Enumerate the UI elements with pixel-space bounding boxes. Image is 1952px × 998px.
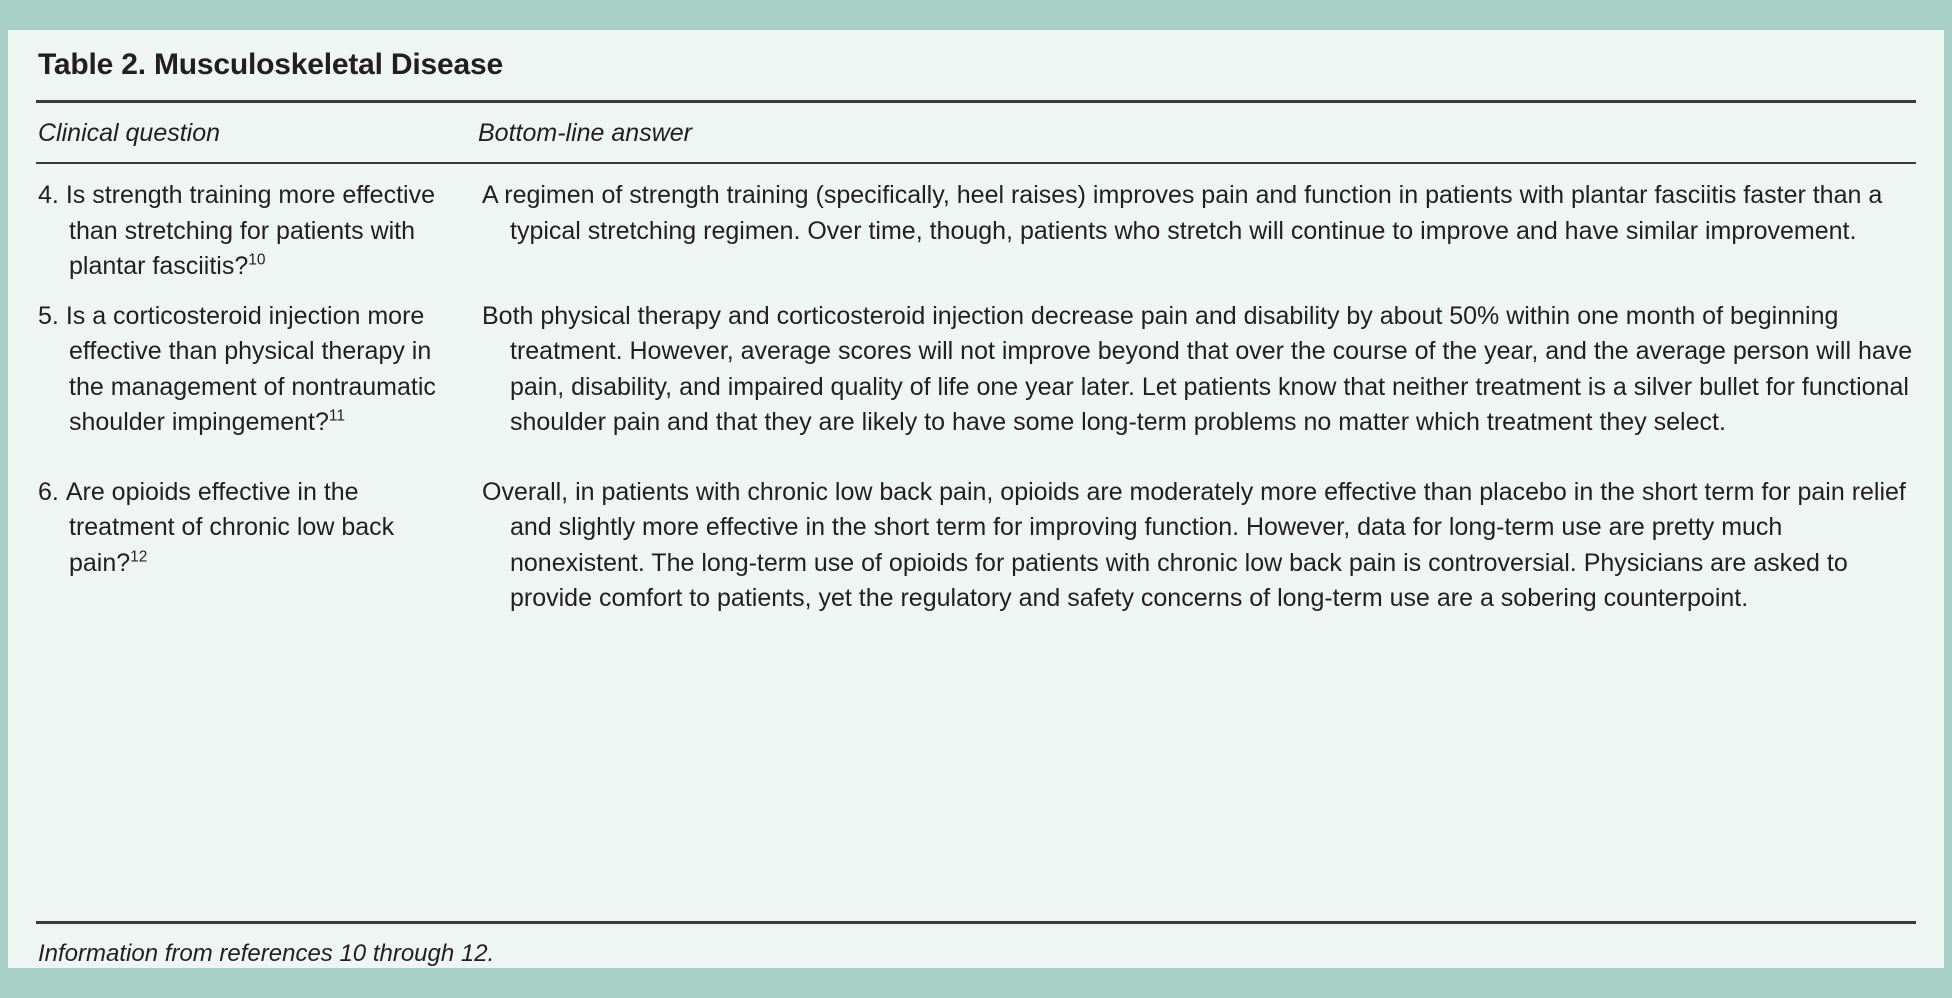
question-cell: 4. Is strength training more effective t… [36,164,476,285]
table-row: 6. Are opioids effective in the treatmen… [36,461,1916,617]
table-body-wrapper: 4. Is strength training more effective t… [36,164,1916,617]
row-spacer [36,441,1916,461]
answer-text: Both physical therapy and corticosteroid… [482,299,1916,441]
question-body: Are opioids effective in the treatment o… [66,478,394,577]
musculoskeletal-disease-table: Clinical question Bottom-line answer [36,103,1916,162]
table-row: 5. Is a corticosteroid injection more ef… [36,285,1916,441]
answer-text: A regimen of strength training (specific… [482,178,1916,249]
question-number: 6. [38,478,59,506]
question-number: 5. [38,302,59,330]
question-reference: 11 [329,408,345,425]
question-cell: 5. Is a corticosteroid injection more ef… [36,285,476,441]
question-reference: 10 [248,252,265,269]
table-inner: Table 2. Musculoskeletal Disease Clinica… [8,30,1944,968]
column-header-clinical-question: Clinical question [36,103,476,162]
layout-spacer [36,617,1916,922]
table-row: 4. Is strength training more effective t… [36,164,1916,285]
question-text: 5. Is a corticosteroid injection more ef… [38,299,452,441]
row-spacer-cell [36,441,476,461]
question-number: 4. [38,181,59,209]
row-spacer-cell [476,441,1916,461]
header-row: Clinical question Bottom-line answer [36,103,1916,162]
question-reference: 12 [130,548,147,565]
question-cell: 6. Are opioids effective in the treatmen… [36,461,476,617]
answer-cell: Overall, in patients with chronic low ba… [476,461,1916,617]
table-footnote: Information from references 10 through 1… [36,924,1916,968]
question-body: Is a corticosteroid injection more effec… [66,302,436,437]
column-header-bottom-line-answer: Bottom-line answer [476,103,1916,162]
table-body: 4. Is strength training more effective t… [36,164,1916,617]
answer-cell: A regimen of strength training (specific… [476,164,1916,285]
table-card: Table 2. Musculoskeletal Disease Clinica… [0,0,1952,998]
answer-text: Overall, in patients with chronic low ba… [482,475,1916,617]
question-text: 6. Are opioids effective in the treatmen… [38,475,452,582]
answer-cell: Both physical therapy and corticosteroid… [476,285,1916,441]
table-header: Clinical question Bottom-line answer [36,103,1916,162]
question-text: 4. Is strength training more effective t… [38,178,452,285]
page-title: Table 2. Musculoskeletal Disease [36,36,1916,100]
